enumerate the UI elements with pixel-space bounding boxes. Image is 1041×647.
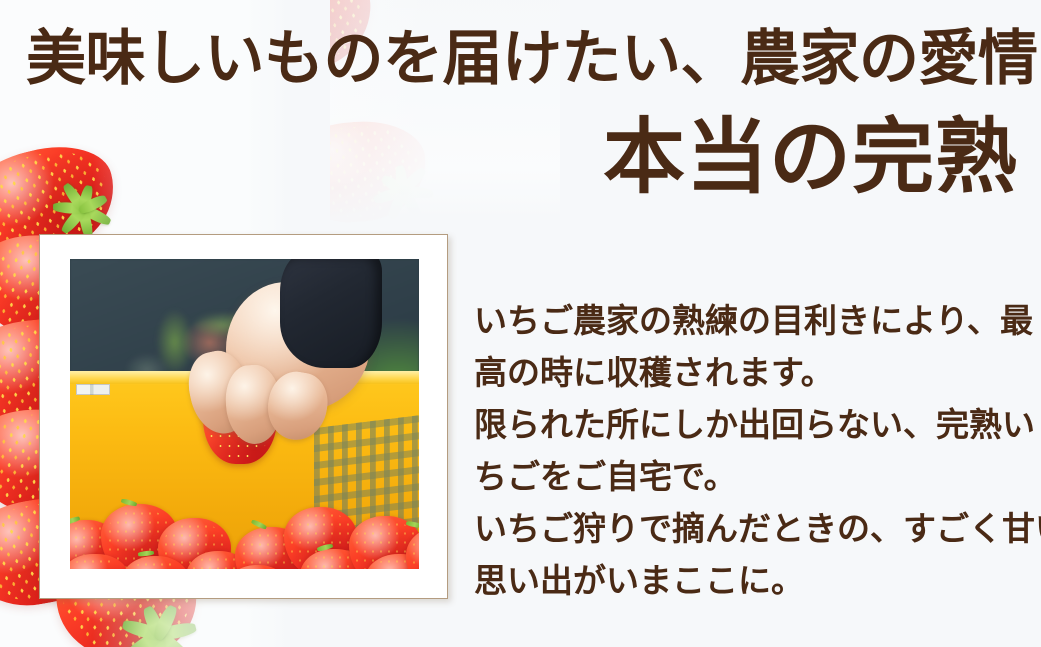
headline-line-2: 本当の完熟	[548, 112, 1018, 204]
harvest-photo	[70, 259, 419, 569]
headline-line-1: 美味しいものを届けたい、農家の愛情	[26, 27, 1016, 91]
body-line: いちご狩りで摘んだときの、すごく甘い	[474, 504, 1034, 556]
crate-label-sticker	[76, 384, 110, 395]
body-line: ちごをご自宅で。	[474, 452, 1034, 504]
body-line: 思い出がいまここに。	[474, 556, 1034, 608]
promo-banner: 美味しいものを届けたい、農家の愛情 本当の完熟	[0, 0, 1041, 647]
body-line: いちご農家の熟練の目利きにより、最	[474, 296, 1034, 348]
body-line: 高の時に収穫されます。	[474, 348, 1034, 400]
farmer-hand	[175, 271, 370, 451]
body-copy: いちご農家の熟練の目利きにより、最 高の時に収穫されます。 限られた所にしか出回…	[474, 296, 1034, 608]
strawberry-heap	[70, 487, 419, 569]
body-line: 限られた所にしか出回らない、完熟い	[474, 400, 1034, 452]
jacket-sleeve	[280, 259, 382, 368]
photo-frame	[39, 234, 448, 599]
